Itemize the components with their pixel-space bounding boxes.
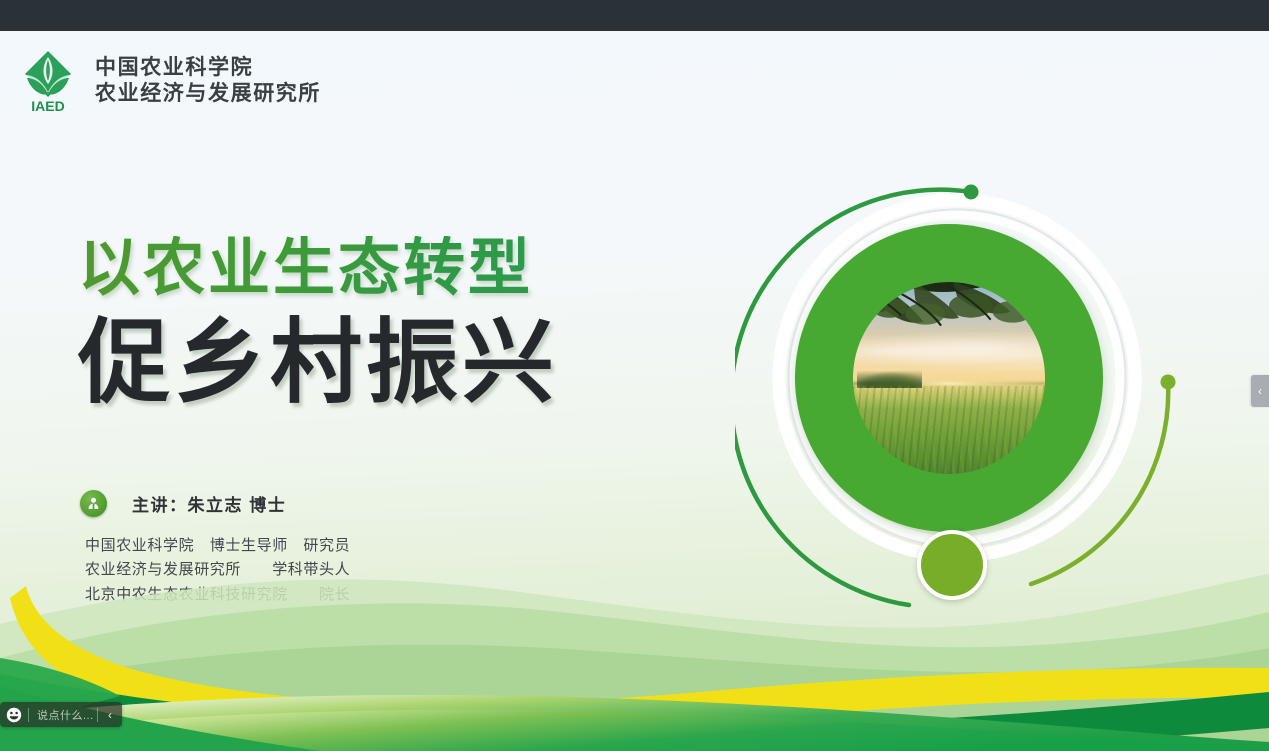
emblem-green-ring (795, 224, 1103, 532)
side-panel-toggle-button[interactable]: ‹ (1251, 375, 1269, 407)
comment-input-bar[interactable]: 说点什么... ‹ (0, 702, 122, 727)
headline-line-1: 以农业生态转型 (78, 236, 558, 303)
emblem-arc-dot-top (964, 185, 979, 200)
brand-org-text: 中国农业科学院 农业经济与发展研究所 (95, 55, 321, 107)
slide-wave-decoration (0, 546, 1269, 751)
headline-line-2: 促乡村振兴 (78, 315, 558, 412)
emblem-photo-field-sunset (853, 282, 1045, 474)
photo-tree-canopy (853, 282, 1045, 401)
slide-headline: 以农业生态转型 促乡村振兴 (78, 236, 558, 412)
smiley-face-icon[interactable] (0, 707, 28, 723)
iaed-leaf-emblem-icon: IAED (22, 48, 74, 114)
brand-org-line-1: 中国农业科学院 (95, 55, 321, 81)
comment-bar-collapse-icon[interactable]: ‹ (98, 708, 122, 722)
slide-viewer-window: IAED 中国农业科学院 农业经济与发展研究所 以农业生态转型 促乡村振兴 (0, 0, 1269, 751)
user-avatar-icon (80, 490, 107, 517)
speaker-heading: 主讲：朱立志 博士 (80, 490, 350, 517)
emblem-arc-dot-right (1161, 375, 1176, 390)
brand-org-line-2: 农业经济与发展研究所 (95, 81, 321, 107)
comment-input-placeholder[interactable]: 说点什么... (29, 707, 97, 723)
speaker-name-label: 主讲：朱立志 博士 (132, 491, 286, 516)
brand-logo-lockup: IAED 中国农业科学院 农业经济与发展研究所 (22, 48, 321, 114)
window-title-bar (0, 0, 1269, 32)
iaed-abbr-text: IAED (31, 98, 64, 114)
slide-stage[interactable]: IAED 中国农业科学院 农业经济与发展研究所 以农业生态转型 促乡村振兴 (0, 31, 1269, 751)
